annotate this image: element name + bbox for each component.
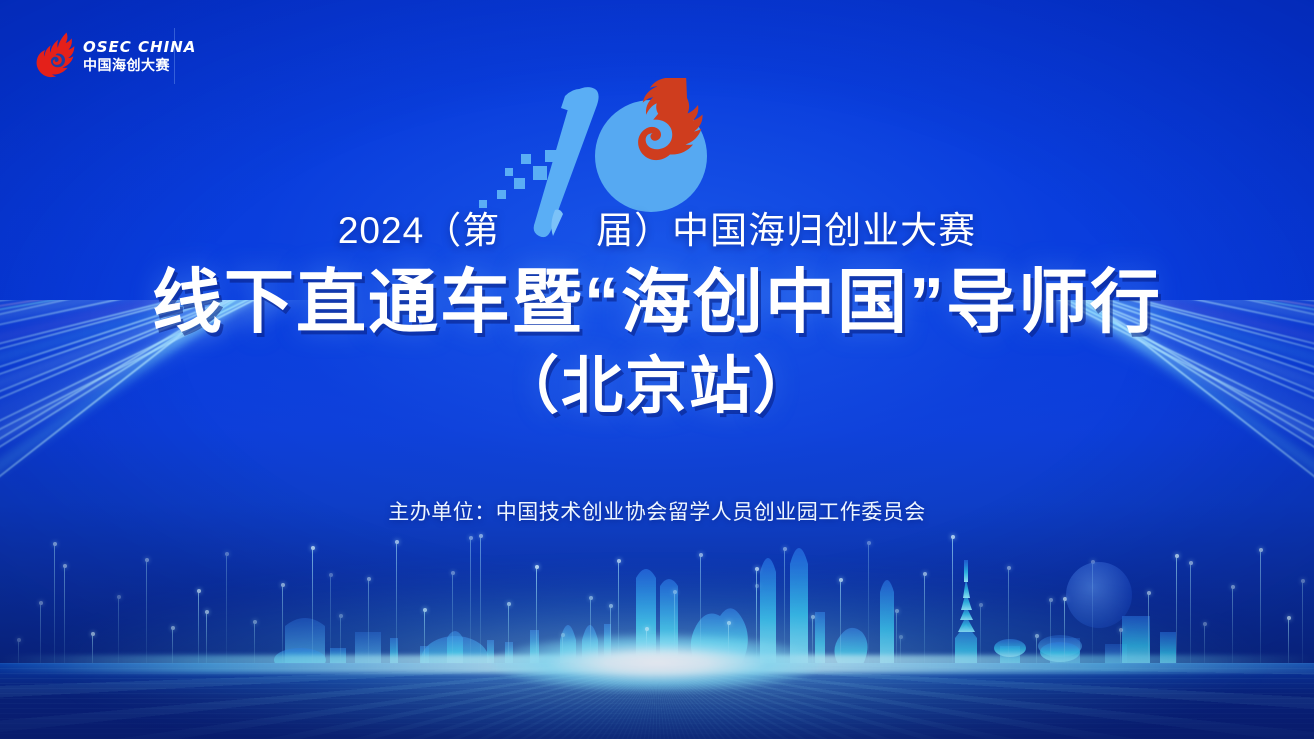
year-line-prefix: 2024（第 xyxy=(338,210,500,251)
organizer-line: 主办单位：中国技术创业协会留学人员创业园工作委员会 xyxy=(0,496,1314,526)
year-line-suffix: 届）中国海归创业大赛 xyxy=(596,210,976,251)
brand-logo-cn: 中国海创大赛 xyxy=(83,58,196,72)
brand-logo-words: OSEC CHINA 中国海创大赛 xyxy=(83,40,196,72)
page-subtitle-city: （北京站） xyxy=(0,355,1314,419)
flame-logo-icon xyxy=(36,31,78,81)
brand-logo-en: OSEC CHINA xyxy=(83,40,196,55)
flame-circle-zero-icon xyxy=(595,78,707,212)
poster-canvas: OSEC CHINA 中国海创大赛 xyxy=(0,0,1314,739)
year-line: 2024（第届）中国海归创业大赛 xyxy=(0,200,1314,254)
brand-logo: OSEC CHINA 中国海创大赛 xyxy=(36,28,175,84)
page-title: 线下直通车暨“海创中国”导师行 xyxy=(0,266,1314,339)
